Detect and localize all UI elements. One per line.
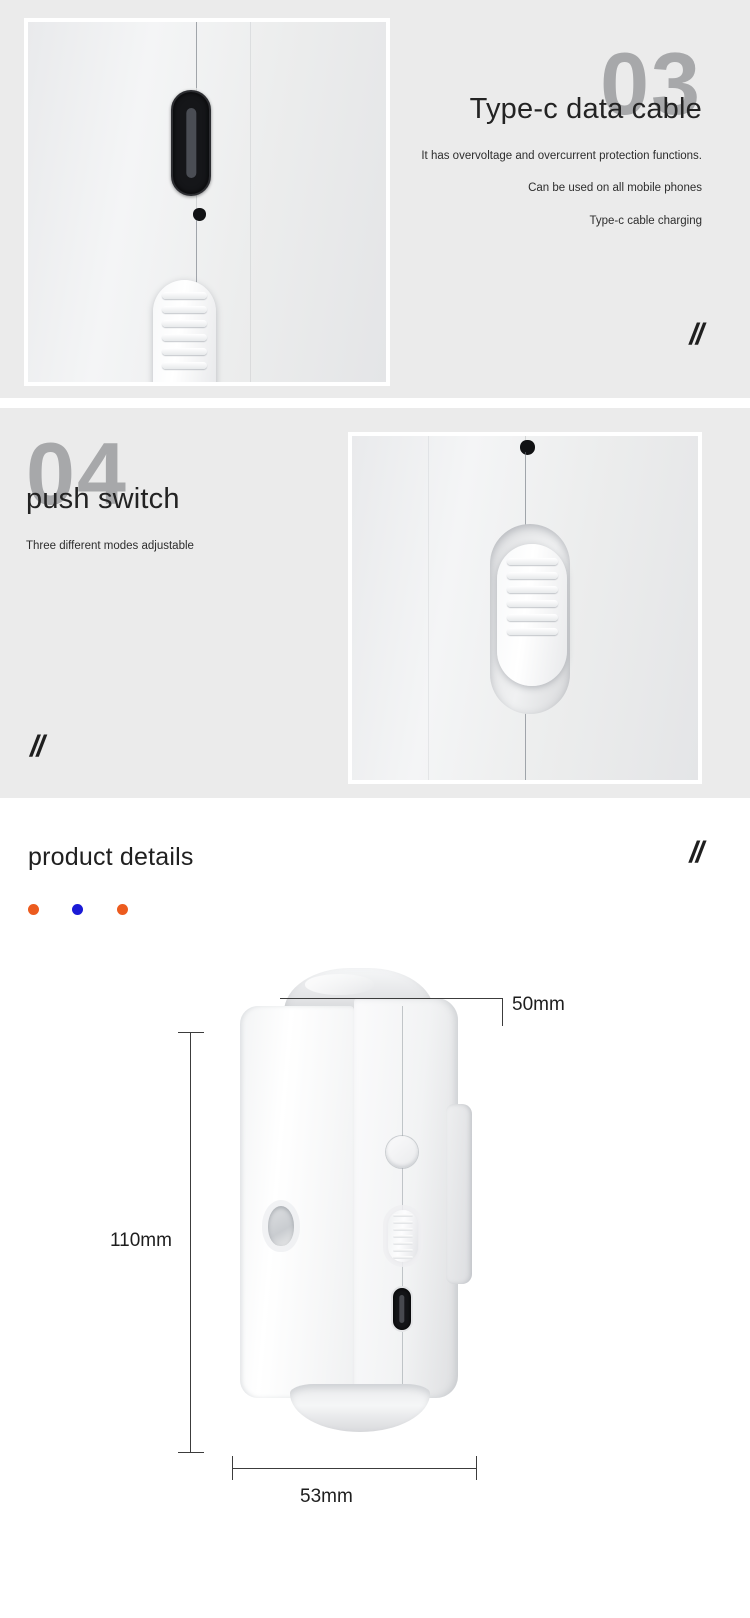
product-front-face [240,1006,354,1398]
wire-bottom [525,714,526,784]
product-image [232,968,482,1438]
section-03-lines: It has overvoltage and overcurrent prote… [382,148,702,230]
ribbed-push-switch [497,544,567,686]
usb-c-port [171,90,211,196]
section-03-line-3: Type-c cable charging [382,213,702,230]
device-seam-line-secondary [428,436,429,780]
dim-label-110mm: 110mm [110,1230,172,1252]
wire-top [196,22,197,88]
section-04-photo [348,432,702,784]
product-seam-line [402,1006,403,1398]
dim-leader-50mm [280,998,502,999]
dim-label-50mm: 50mm [512,994,565,1016]
dim-tick-50mm [502,998,503,1026]
product-rear-bracket [446,1104,472,1284]
marker-dot [520,440,535,455]
dim-cap-right-53mm [476,1456,477,1480]
dim-cap-bottom-110mm [178,1452,204,1453]
wire-middle [196,220,197,282]
marker-dot [193,208,206,221]
section-type-c-data-cable: 03 Type-c data cable It has overvoltage … [0,0,750,398]
section-04-slash-mark: // [30,730,43,764]
product-slide-switch [388,1210,418,1262]
ribbed-switch [153,280,216,386]
section-push-switch: 04 push switch Three different modes adj… [0,408,750,798]
switch-ribs [507,558,557,672]
color-dots [28,901,157,919]
wire-top [525,452,526,526]
section-03-line-1: It has overvoltage and overcurrent prote… [382,148,702,165]
section-03-text: 03 Type-c data cable It has overvoltage … [382,50,702,230]
product-details-slash-mark: // [689,836,702,870]
section-03-line-2: Can be used on all mobile phones [382,180,702,197]
dot-orange-1 [28,904,39,915]
dim-line-53mm [232,1468,476,1469]
section-04-line-1: Three different modes adjustable [26,538,356,555]
photo-scene-type-c [28,22,386,382]
device-seam-line-secondary [250,22,251,382]
product-base-dome [290,1384,430,1432]
dot-orange-2 [117,904,128,915]
dim-label-53mm: 53mm [300,1486,353,1508]
section-03-title: Type-c data cable [382,93,702,126]
dot-blue [72,904,83,915]
product-usb-c-port [391,1286,413,1332]
photo-scene-push-switch [352,436,698,780]
product-round-button [386,1136,418,1168]
product-details-title: product details [28,843,194,872]
section-04-lines: Three different modes adjustable [26,538,356,555]
product-dimension-drawing: 50mm 110mm 53mm [0,958,750,1558]
product-details-section: product details // 50mm [0,798,750,1618]
dim-line-110mm [190,1032,191,1452]
section-04-text: 04 push switch Three different modes adj… [26,440,356,554]
section-04-title: push switch [26,483,356,516]
pir-sensor-icon [268,1206,294,1246]
switch-ribs [162,292,207,386]
section-03-slash-mark: // [689,318,702,352]
product-side-face [354,998,458,1398]
section-03-photo [24,18,390,386]
dim-cap-top-110mm [178,1032,204,1033]
